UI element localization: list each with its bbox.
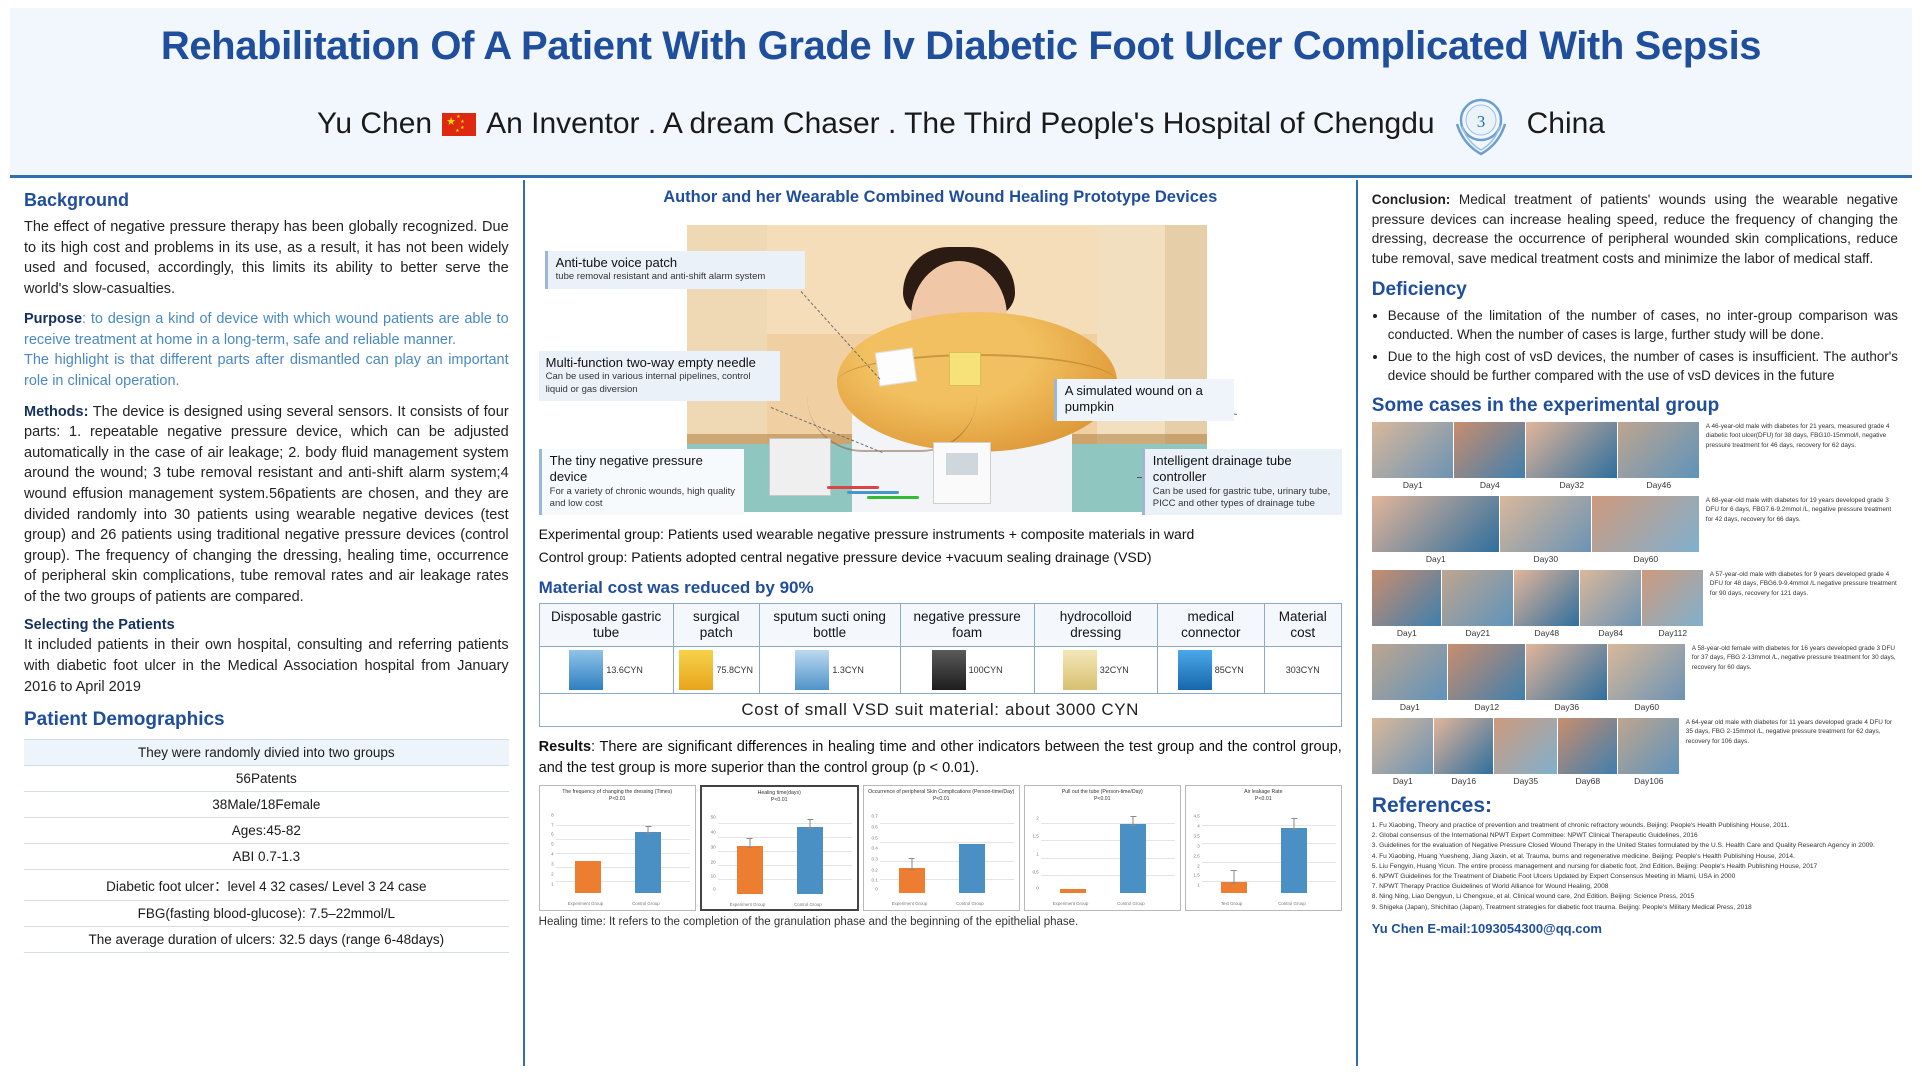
cost-cell-gastric-tube: 13.6CYN (539, 647, 673, 694)
day-label: Day12 (1448, 702, 1526, 712)
table-row: Diabetic foot ulcer：level 4 32 cases/ Le… (24, 870, 509, 901)
column-middle: Author and her Wearable Combined Wound H… (525, 180, 1358, 1066)
callout-sub: tube removal resistant and anti-shift al… (556, 271, 797, 283)
chart-x-label: Experiment Group (890, 901, 929, 906)
callout-title: The tiny negative pressure device (550, 453, 703, 484)
product-thumbnail (795, 650, 829, 690)
list-item: Because of the limitation of the number … (1388, 306, 1898, 344)
day-labels: Day1 Day21 Day48 Day84 Day112 (1372, 628, 1704, 638)
day-labels: Day1 Day16 Day35 Day68 Day106 (1372, 776, 1680, 786)
page-title: Rehabilitation Of A Patient With Grade l… (30, 24, 1892, 68)
cost-header-cell: sputum sucti oning bottle (759, 604, 900, 647)
poster-columns: Background The effect of negative pressu… (10, 180, 1912, 1066)
cost-value: 75.8CYN (716, 665, 753, 675)
author-line: Yu Chen ★★★★★ An Inventor . A dream Chas… (30, 88, 1892, 160)
reference-item: 1. Fu Xiaobing, Theory and practice of p… (1372, 821, 1898, 831)
reference-item: 2. Global consensus of the International… (1372, 831, 1898, 841)
bar-control (1120, 824, 1146, 893)
chart-plot: 50 40 30 20 10 0 Experiment Group (704, 812, 855, 908)
chart-plot: 4.5 4 3.5 3 2.5 2 1.5 1 (1188, 811, 1339, 907)
case-photo (1642, 570, 1704, 626)
deficiency-heading: Deficiency (1372, 279, 1898, 301)
case-description: A 57-year-old male with diabetes for 9 y… (1704, 570, 1898, 598)
chart-x-label: Experiment Group (566, 901, 605, 906)
chart-x-label: Control Group (1111, 901, 1150, 906)
experimental-group-text: Experimental group: Patients used wearab… (539, 524, 1342, 545)
cost-value-row: 13.6CYN 75.8CYN 1.3CYN 100CYN 32CYN 85CY… (539, 647, 1341, 694)
product-thumbnail (932, 650, 966, 690)
chart-healing-time: Healing time(days)P<0.01 50 40 30 20 10 … (700, 785, 859, 911)
day-label: Day112 (1642, 628, 1704, 638)
case-photo (1442, 570, 1514, 626)
case-images: Day1 Day16 Day35 Day68 Day106 (1372, 718, 1680, 786)
day-label: Day1 (1372, 702, 1448, 712)
purpose-block: Purpose: to design a kind of device with… (24, 309, 509, 391)
callout-title: Multi-function two-way empty needle (546, 355, 756, 370)
chart-gridlines (1041, 815, 1175, 893)
poster-header: Rehabilitation Of A Patient With Grade l… (10, 8, 1912, 178)
chart-pull-out-tube: Pull out the tube (Person-time/Day)P<0.0… (1024, 785, 1181, 911)
day-label: Day60 (1608, 702, 1686, 712)
demographics-cell: FBG(fasting blood-glucose): 7.5–22mmol/L (24, 901, 509, 927)
poster-root: Rehabilitation Of A Patient With Grade l… (0, 0, 1922, 1080)
image-strip (1372, 496, 1700, 552)
bar-experiment (1221, 882, 1247, 894)
chart-y-axis: 8 7 6 5 4 3 2 1 (542, 811, 555, 893)
day-label: Day60 (1592, 554, 1700, 564)
cost-value: 1.3CYN (832, 665, 864, 675)
day-labels: Day1 Day4 Day32 Day46 (1372, 480, 1700, 490)
cost-header-cell: hydrocolloid dressing (1034, 604, 1157, 647)
svg-text:3: 3 (1476, 112, 1485, 131)
reference-item: 6. NPWT Guidelines for the Treatment of … (1372, 872, 1898, 882)
case-images: Day1 Day30 Day60 (1372, 496, 1700, 564)
case-row-1: Day1 Day4 Day32 Day46 A 46-year-old male… (1372, 422, 1898, 490)
demographics-heading: Patient Demographics (24, 709, 509, 731)
chart-subtitle: P<0.01 (771, 797, 788, 803)
photo-section-title: Author and her Wearable Combined Wound H… (539, 188, 1342, 207)
cases-heading: Some cases in the experimental group (1372, 395, 1898, 417)
product-thumbnail (569, 650, 603, 690)
case-images: Day1 Day12 Day36 Day60 (1372, 644, 1686, 712)
cost-cell-surgical-patch: 75.8CYN (673, 647, 759, 694)
product-thumbnail (1178, 650, 1212, 690)
control-group-text: Control group: Patients adopted central … (539, 547, 1342, 568)
material-cost-table: Disposable gastric tube surgical patch s… (539, 603, 1342, 727)
chart-plot: 8 7 6 5 4 3 2 1 (542, 811, 693, 907)
cost-value: 13.6CYN (606, 665, 643, 675)
day-label: Day1 (1372, 554, 1500, 564)
demographics-cell: Diabetic foot ulcer：level 4 32 cases/ Le… (24, 870, 509, 901)
patient-demographics-table: They were randomly divied into two group… (24, 739, 509, 953)
cost-header-row: Disposable gastric tube surgical patch s… (539, 604, 1341, 647)
results-block: Results: There are significant differenc… (539, 737, 1342, 779)
cost-value: 303CYN (1286, 665, 1320, 675)
cost-value: 100CYN (969, 665, 1003, 675)
bar-experiment (575, 861, 601, 894)
product-thumbnail (1063, 650, 1097, 690)
hospital-crest-icon: 3 (1445, 90, 1517, 162)
cost-header-cell: medical connector (1157, 604, 1264, 647)
cost-value: 85CYN (1215, 665, 1244, 675)
references-heading: References: (1372, 794, 1898, 818)
case-photo (1592, 496, 1700, 552)
callout-title: Intelligent drainage tube controller (1153, 453, 1292, 484)
case-description: A 64-year old male with diabetes for 11 … (1680, 718, 1898, 746)
image-strip (1372, 570, 1704, 626)
case-photo (1372, 422, 1454, 478)
chart-x-label: Test Group (1212, 901, 1251, 906)
case-photo (1526, 422, 1618, 478)
reference-item: 7. NPWT Therapy Practice Guidelines of W… (1372, 882, 1898, 892)
case-photo (1580, 570, 1642, 626)
methods-block: Methods: The device is designed using se… (24, 402, 509, 608)
intelligent-drainage-controller (933, 442, 991, 504)
day-label: Day16 (1434, 776, 1494, 786)
day-label: Day84 (1580, 628, 1642, 638)
day-label: Day32 (1526, 480, 1618, 490)
chart-y-axis: 2 1.5 1 0.5 0 (1027, 811, 1040, 893)
image-strip (1372, 644, 1686, 700)
contact-email[interactable]: Yu Chen E-mail:1093054300@qq.com (1372, 921, 1898, 936)
day-labels: Day1 Day12 Day36 Day60 (1372, 702, 1686, 712)
case-photo (1494, 718, 1558, 774)
case-images: Day1 Day21 Day48 Day84 Day112 (1372, 570, 1704, 638)
selecting-text: It included patients in their own hospit… (24, 635, 509, 697)
day-label: Day4 (1454, 480, 1526, 490)
methods-text: The device is designed using several sen… (24, 404, 509, 605)
day-label: Day106 (1618, 776, 1680, 786)
background-text: The effect of negative pressure therapy … (24, 217, 509, 299)
case-description: A 58-year-old female with diabetes for 1… (1686, 644, 1898, 672)
prototype-photo-figure: Anti-tube voice patch tube removal resis… (539, 211, 1342, 516)
chart-subtitle: P<0.01 (1255, 796, 1272, 802)
demographics-rows: They were randomly divied into two group… (24, 740, 509, 953)
cost-cell-pressure-foam: 100CYN (900, 647, 1034, 694)
chart-x-label: Control Group (626, 901, 665, 906)
callout-sub: Can be used for gastric tube, urinary tu… (1153, 486, 1334, 511)
reference-item: 9. Shigeka (Japan), Shichitao (Japan), T… (1372, 903, 1898, 913)
cost-header-cell: surgical patch (673, 604, 759, 647)
chart-dressing-frequency: The frequency of changing the dressing (… (539, 785, 696, 911)
demographics-cell: They were randomly divied into two group… (24, 740, 509, 766)
callout-tiny-negative-pressure-device: The tiny negative pressure device For a … (539, 449, 744, 515)
day-label: Day1 (1372, 628, 1442, 638)
china-flag-icon: ★★★★★ (442, 113, 476, 136)
background-heading: Background (24, 190, 509, 211)
reference-item: 3. Guidelines for the evaluation of Nega… (1372, 841, 1898, 851)
callout-title: A simulated wound on a pumpkin (1065, 383, 1203, 414)
chart-x-label: Experiment Group (728, 902, 767, 907)
image-strip (1372, 718, 1680, 774)
chart-y-axis: 4.5 4 3.5 3 2.5 2 1.5 1 (1188, 811, 1201, 893)
bar-experiment (1060, 889, 1086, 894)
references-list: 1. Fu Xiaobing, Theory and practice of p… (1372, 821, 1898, 913)
case-photo (1454, 422, 1526, 478)
case-photo (1514, 570, 1580, 626)
results-charts: The frequency of changing the dressing (… (539, 785, 1342, 911)
wires (827, 486, 937, 500)
table-row: Ages:45-82 (24, 818, 509, 844)
bar-control (1281, 828, 1307, 893)
day-label: Day46 (1618, 480, 1700, 490)
chart-y-axis: 50 40 30 20 10 0 (704, 812, 717, 894)
day-labels: Day1 Day30 Day60 (1372, 554, 1700, 564)
day-label: Day21 (1442, 628, 1514, 638)
image-strip (1372, 422, 1700, 478)
author-name: Yu Chen (317, 107, 432, 141)
chart-title: Healing time(days) (758, 790, 801, 796)
chart-plot: 2 1.5 1 0.5 0 Experiment Group Control G (1027, 811, 1178, 907)
affiliation: An Inventor . A dream Chaser . The Third… (486, 107, 1435, 141)
bar-control (635, 832, 661, 893)
cost-value: 32CYN (1100, 665, 1129, 675)
bar-control (797, 827, 823, 894)
callout-title: Anti-tube voice patch (556, 255, 677, 270)
demographics-cell: ABI 0.7-1.3 (24, 844, 509, 870)
day-label: Day68 (1558, 776, 1618, 786)
chart-x-label: Control Group (1272, 901, 1311, 906)
case-photo (1372, 718, 1434, 774)
table-row: They were randomly divied into two group… (24, 740, 509, 766)
cost-header-cell: Disposable gastric tube (539, 604, 673, 647)
bar-control (959, 844, 985, 894)
simulated-wound (949, 352, 981, 386)
chart-y-axis: 0.7 0.6 0.5 0.4 0.3 0.2 0.1 0 (866, 811, 879, 893)
table-row: 56Patents (24, 766, 509, 792)
case-row-3: Day1 Day21 Day48 Day84 Day112 A 57-year-… (1372, 570, 1898, 638)
case-photo (1618, 422, 1700, 478)
chart-title: Occurrence of peripheral Skin Complicati… (868, 789, 1014, 795)
case-photo (1500, 496, 1592, 552)
list-item: Due to the high cost of vsD devices, the… (1388, 347, 1898, 385)
highlight-text: The highlight is that different parts af… (24, 352, 509, 389)
chart-subtitle: P<0.01 (609, 796, 626, 802)
callout-simulated-wound: A simulated wound on a pumpkin (1054, 379, 1234, 421)
case-photo (1618, 718, 1680, 774)
chart-air-leakage-rate: Air leakage RateP<0.01 4.5 4 3.5 3 2.5 2… (1185, 785, 1342, 911)
demographics-cell: 56Patents (24, 766, 509, 792)
case-row-2: Day1 Day30 Day60 A 68-year-old male with… (1372, 496, 1898, 564)
conclusion-label: Conclusion: (1372, 192, 1451, 207)
case-photo (1372, 644, 1448, 700)
tiny-negative-pressure-device (769, 438, 831, 496)
demographics-cell: 38Male/18Female (24, 792, 509, 818)
reference-item: 4. Fu Xiaobing, Huang Yuesheng, Jiang Ji… (1372, 852, 1898, 862)
day-label: Day36 (1526, 702, 1608, 712)
day-label: Day48 (1514, 628, 1580, 638)
callout-sub: Can be used in various internal pipeline… (546, 371, 772, 396)
chart-subtitle: P<0.01 (933, 796, 950, 802)
chart-skin-complications: Occurrence of peripheral Skin Complicati… (863, 785, 1020, 911)
day-label: Day1 (1372, 480, 1454, 490)
case-images: Day1 Day4 Day32 Day46 (1372, 422, 1700, 490)
conclusion-block: Conclusion: Medical treatment of patient… (1372, 190, 1898, 269)
reference-item: 8. Ning Ning, Liao Dengyun, Li Chengxue,… (1372, 892, 1898, 902)
purpose-text: : to design a kind of device with which … (24, 311, 509, 348)
reference-item: 5. Liu Fengyin, Huang Yicun. The entire … (1372, 862, 1898, 872)
bar-experiment (899, 868, 925, 893)
cost-cell-connector: 85CYN (1157, 647, 1264, 694)
day-label: Day1 (1372, 776, 1434, 786)
case-photo (1372, 496, 1500, 552)
cost-total-row: Cost of small VSD suit material: about 3… (539, 694, 1341, 727)
callout-two-way-needle: Multi-function two-way empty needle Can … (539, 351, 780, 401)
day-label: Day30 (1500, 554, 1592, 564)
callout-anti-tube-voice-patch: Anti-tube voice patch tube removal resis… (545, 251, 805, 289)
table-row: ABI 0.7-1.3 (24, 844, 509, 870)
purpose-label: Purpose (24, 311, 82, 327)
results-text: : There are significant differences in h… (539, 739, 1342, 776)
deficiency-list: Because of the limitation of the number … (1388, 306, 1898, 385)
case-photo (1434, 718, 1494, 774)
results-label: Results (539, 739, 591, 755)
cost-header-cell: negative pressure foam (900, 604, 1034, 647)
methods-label: Methods: (24, 404, 88, 420)
case-photo (1608, 644, 1686, 700)
cost-total-text: Cost of small VSD suit material: about 3… (539, 694, 1341, 727)
column-right: Conclusion: Medical treatment of patient… (1358, 180, 1912, 1066)
conclusion-text: Medical treatment of patients' wounds us… (1372, 192, 1898, 266)
chart-title: Air leakage Rate (1244, 789, 1282, 795)
bar-experiment (737, 846, 763, 894)
case-description: A 68-year-old male with diabetes for 19 … (1700, 496, 1898, 524)
case-photo (1558, 718, 1618, 774)
cost-heading: Material cost was reduced by 90% (539, 578, 1342, 598)
case-photo (1526, 644, 1608, 700)
case-photo (1372, 570, 1442, 626)
anti-tube-voice-patch (874, 348, 916, 387)
cost-cell-total: 303CYN (1264, 647, 1341, 694)
chart-title: Pull out the tube (Person-time/Day) (1062, 789, 1143, 795)
table-row: 38Male/18Female (24, 792, 509, 818)
cost-header-cell: Material cost (1264, 604, 1341, 647)
day-label: Day35 (1494, 776, 1558, 786)
chart-x-label: Control Group (788, 902, 827, 907)
product-thumbnail (679, 650, 713, 690)
table-row: FBG(fasting blood-glucose): 7.5–22mmol/L (24, 901, 509, 927)
table-row: The average duration of ulcers: 32.5 day… (24, 927, 509, 953)
chart-note: Healing time: It refers to the completio… (539, 916, 1342, 928)
case-row-5: Day1 Day16 Day35 Day68 Day106 A 64-year … (1372, 718, 1898, 786)
selecting-heading: Selecting the Patients (24, 617, 509, 633)
chart-x-label: Control Group (950, 901, 989, 906)
callout-sub: For a variety of chronic wounds, high qu… (550, 486, 736, 511)
chart-title: The frequency of changing the dressing (… (562, 789, 672, 795)
callout-drainage-controller: Intelligent drainage tube controller Can… (1142, 449, 1342, 515)
chart-subtitle: P<0.01 (1094, 796, 1111, 802)
country: China (1527, 107, 1605, 141)
cost-cell-suction-bottle: 1.3CYN (759, 647, 900, 694)
case-description: A 46-year-old male with diabetes for 21 … (1700, 422, 1898, 450)
case-row-4: Day1 Day12 Day36 Day60 A 58-year-old fem… (1372, 644, 1898, 712)
chart-x-label: Experiment Group (1051, 901, 1090, 906)
chart-plot: 0.7 0.6 0.5 0.4 0.3 0.2 0.1 0 (866, 811, 1017, 907)
column-left: Background The effect of negative pressu… (10, 180, 525, 1066)
demographics-cell: Ages:45-82 (24, 818, 509, 844)
case-photo (1448, 644, 1526, 700)
demographics-cell: The average duration of ulcers: 32.5 day… (24, 927, 509, 953)
cost-cell-hydrocolloid: 32CYN (1034, 647, 1157, 694)
